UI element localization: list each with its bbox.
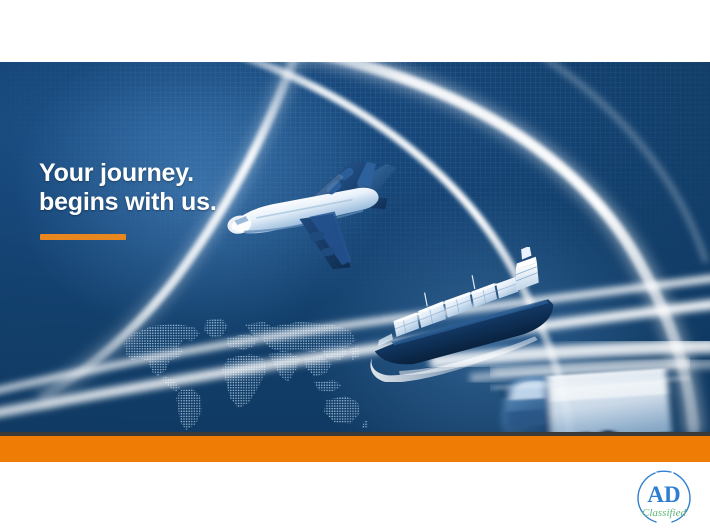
- bottom-white-margin: [0, 462, 710, 530]
- advertisement-banner: Your journey. begins with us. Specialist…: [0, 0, 710, 530]
- hero-panel: Your journey. begins with us. Specialist…: [0, 62, 710, 432]
- orange-band: [0, 436, 710, 462]
- ad-classified-logo[interactable]: AD Classified: [630, 466, 698, 526]
- headline-line-1: Your journey.: [39, 159, 369, 188]
- logo-initials: AD: [647, 482, 680, 507]
- logo-subtitle: Classified: [642, 507, 687, 519]
- headline-accent-rule: [40, 234, 126, 240]
- headline-line-2: begins with us.: [39, 188, 369, 217]
- truck-graphic: [490, 354, 690, 432]
- top-white-margin: [0, 0, 710, 62]
- headline: Your journey. begins with us.: [39, 159, 369, 217]
